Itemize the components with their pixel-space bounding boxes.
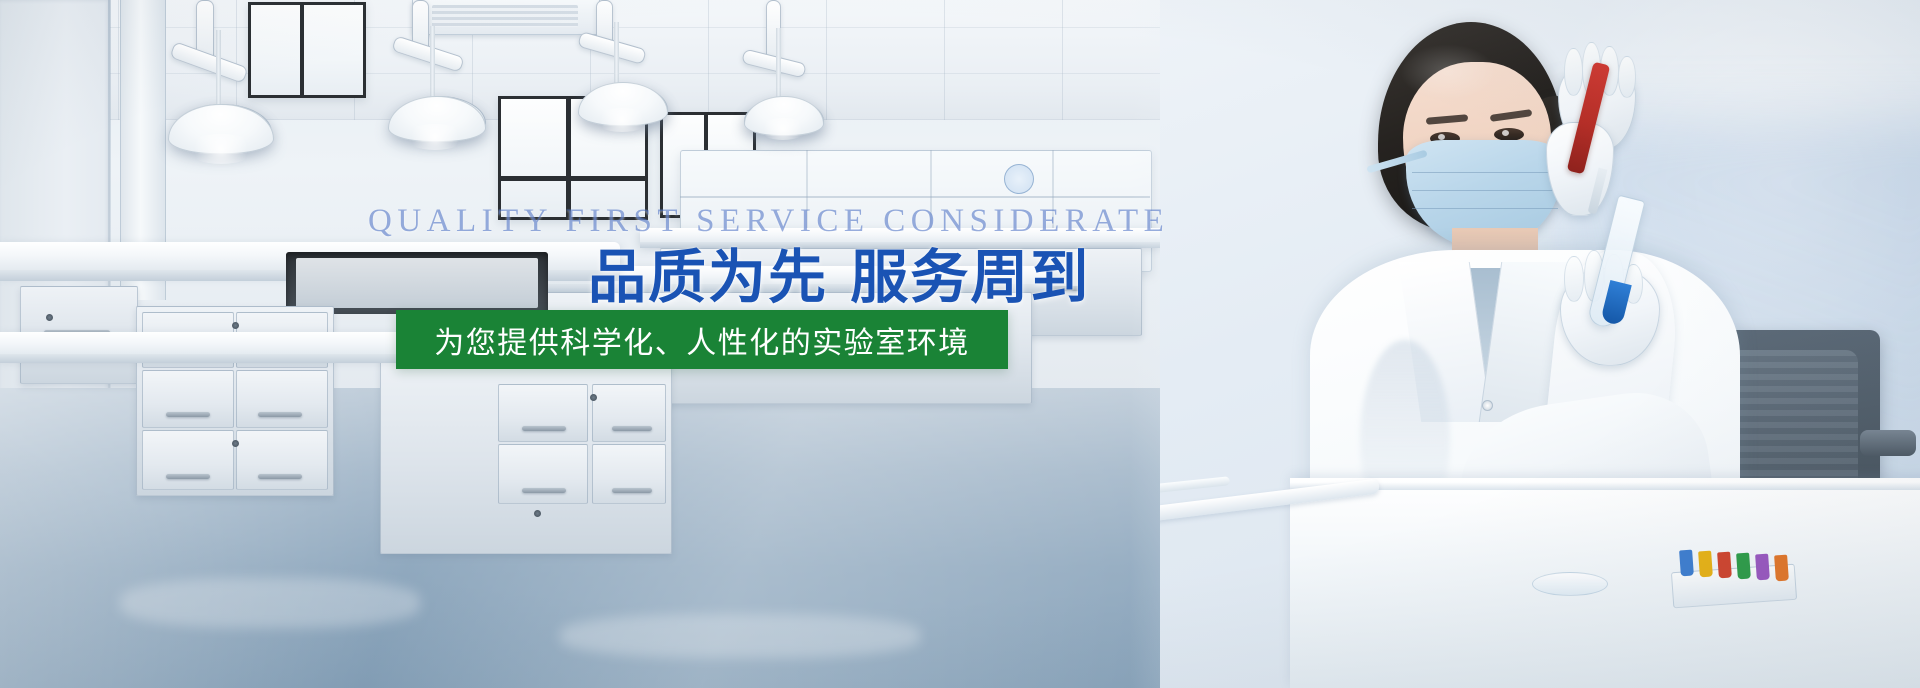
text-overlay: QUALITY FIRST SERVICE CONSIDERATE 品质为先 服… [0, 0, 1920, 688]
subtitle-banner: 为您提供科学化、人性化的实验室环境 [396, 310, 1008, 369]
english-tagline: QUALITY FIRST SERVICE CONSIDERATE [368, 203, 1169, 240]
subtitle-text: 为您提供科学化、人性化的实验室环境 [434, 318, 970, 362]
headline-text: 品质为先 服务周到 [588, 248, 1090, 306]
hero-banner: QUALITY FIRST SERVICE CONSIDERATE 品质为先 服… [0, 0, 1920, 688]
